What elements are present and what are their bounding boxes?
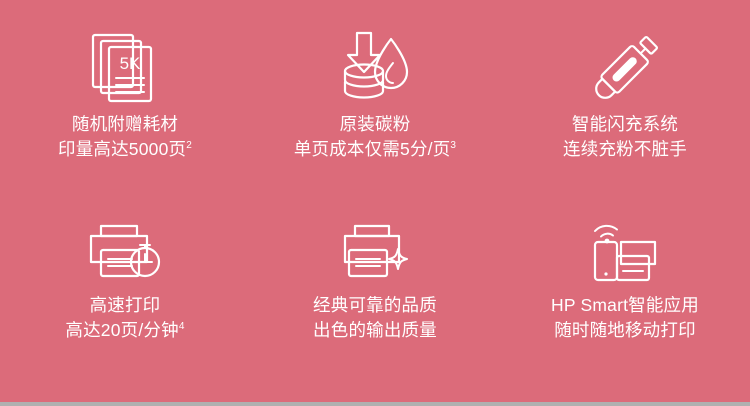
- syringe-refill-icon: [582, 26, 668, 112]
- printer-stopwatch-icon: [79, 215, 171, 293]
- feature-caption: 随机附赠耗材 印量高达5000页2: [58, 112, 192, 161]
- feature-caption: 智能闪充系统 连续充粉不脏手: [563, 112, 687, 161]
- footnote-marker: 2: [186, 140, 192, 151]
- feature-banner: 5K 随机附赠耗材 印量高达5000页2: [0, 0, 750, 402]
- feature-line-2: 随时随地移动打印: [551, 318, 699, 342]
- feature-card-hp-smart-app: HP Smart智能应用 随时随地移动打印: [500, 201, 750, 402]
- stacked-pages-count-label: 5K: [120, 54, 141, 73]
- toner-powder-droplet-icon: [329, 26, 421, 112]
- feature-line-2: 单页成本仅需5分/页3: [294, 137, 456, 161]
- feature-card-original-toner: 原装碳粉 单页成本仅需5分/页3: [250, 0, 500, 201]
- feature-card-fast-printing: 高速打印 高达20页/分钟4: [0, 201, 250, 402]
- feature-caption: HP Smart智能应用 随时随地移动打印: [551, 293, 699, 342]
- feature-grid: 5K 随机附赠耗材 印量高达5000页2: [0, 0, 750, 402]
- feature-card-supplies-included: 5K 随机附赠耗材 印量高达5000页2: [0, 0, 250, 201]
- feature-line-1: HP Smart智能应用: [551, 293, 699, 317]
- bottom-divider-strip: [0, 402, 750, 406]
- feature-card-reliable-quality: 经典可靠的品质 出色的输出质量: [250, 201, 500, 402]
- feature-caption: 经典可靠的品质 出色的输出质量: [313, 293, 437, 342]
- feature-line-2: 出色的输出质量: [313, 318, 437, 342]
- footnote-marker: 4: [179, 321, 185, 332]
- feature-card-smart-refill-system: 智能闪充系统 连续充粉不脏手: [500, 0, 750, 201]
- feature-caption: 原装碳粉 单页成本仅需5分/页3: [294, 112, 456, 161]
- footnote-marker: 3: [450, 140, 456, 151]
- feature-line-2: 印量高达5000页2: [58, 137, 192, 161]
- feature-caption: 高速打印 高达20页/分钟4: [65, 293, 184, 342]
- feature-line-2: 高达20页/分钟4: [65, 318, 184, 342]
- phone-wireless-printer-icon: [577, 215, 673, 293]
- stacked-pages-5k-icon: 5K: [83, 26, 167, 112]
- feature-line-1: 经典可靠的品质: [313, 293, 437, 317]
- printer-sparkle-icon: [329, 215, 421, 293]
- feature-line-1: 随机附赠耗材: [58, 112, 192, 136]
- feature-line-1: 原装碳粉: [294, 112, 456, 136]
- feature-line-1: 高速打印: [65, 293, 184, 317]
- feature-line-2: 连续充粉不脏手: [563, 137, 687, 161]
- feature-line-1: 智能闪充系统: [563, 112, 687, 136]
